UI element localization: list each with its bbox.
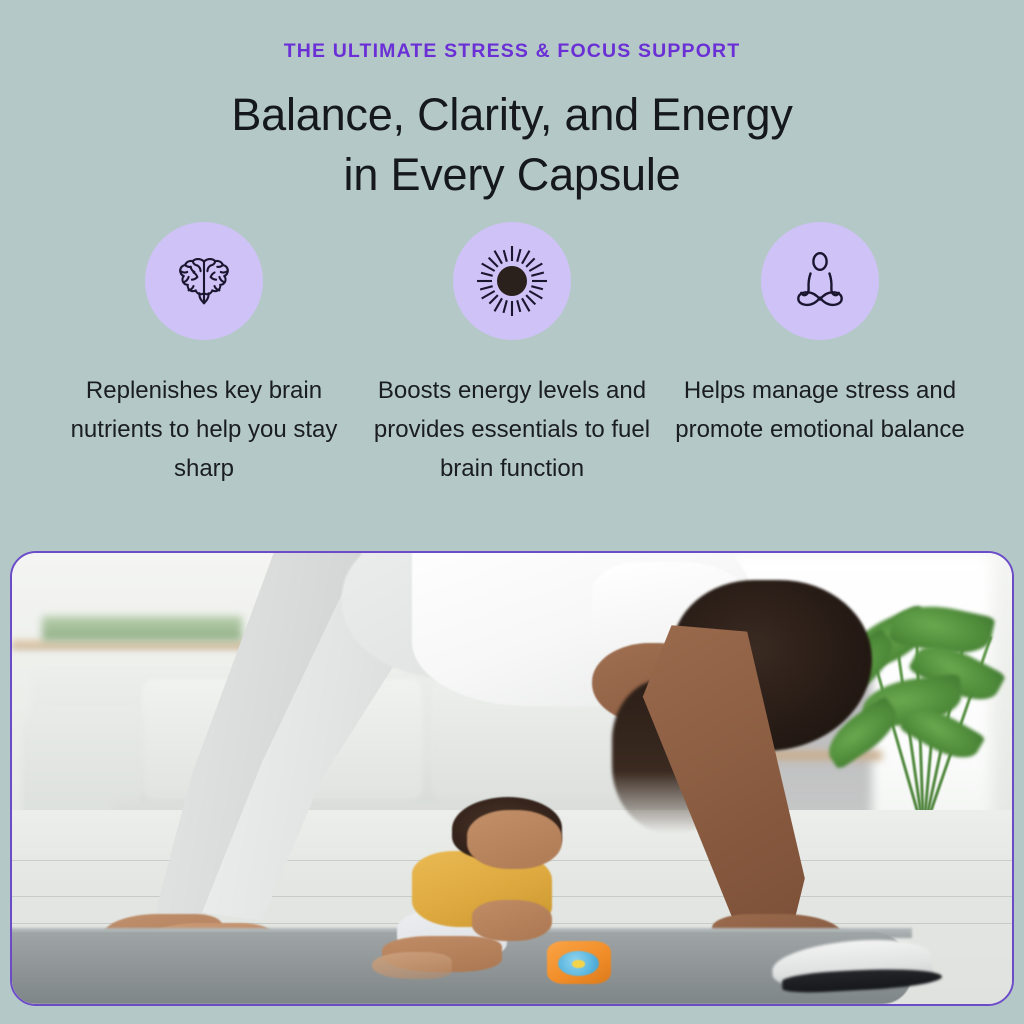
benefit-text-energy: Boosts energy levels and provides essent…: [367, 372, 657, 489]
benefit-item-brain: Replenishes key brain nutrients to help …: [50, 222, 358, 489]
benefits-row: Replenishes key brain nutrients to help …: [0, 222, 1024, 489]
baby-arm: [472, 900, 552, 941]
sun-icon: [472, 241, 552, 321]
benefit-item-balance: Helps manage stress and promote emotiona…: [666, 222, 974, 450]
headline-line-1: Balance, Clarity, and Energy: [231, 89, 792, 140]
headline-line-2: in Every Capsule: [0, 145, 1024, 205]
eyebrow-text: THE ULTIMATE STRESS & FOCUS SUPPORT: [0, 40, 1024, 63]
sun-icon-circle: [453, 222, 571, 340]
brain-icon-circle: [145, 222, 263, 340]
baby-foot: [372, 952, 452, 979]
brain-icon: [168, 245, 240, 317]
photo-scene: [12, 553, 1012, 1004]
shelf-books: [42, 616, 242, 641]
promo-banner: THE ULTIMATE STRESS & FOCUS SUPPORT Bala…: [0, 0, 1024, 1024]
benefit-text-brain: Replenishes key brain nutrients to help …: [59, 372, 349, 489]
page-title: Balance, Clarity, and Energy in Every Ca…: [0, 85, 1024, 205]
baby-head: [467, 810, 562, 869]
lifestyle-photo: [10, 551, 1014, 1006]
meditation-icon-circle: [761, 222, 879, 340]
benefit-item-energy: Boosts energy levels and provides essent…: [358, 222, 666, 489]
benefit-text-balance: Helps manage stress and promote emotiona…: [675, 372, 965, 450]
meditation-icon: [783, 244, 857, 318]
